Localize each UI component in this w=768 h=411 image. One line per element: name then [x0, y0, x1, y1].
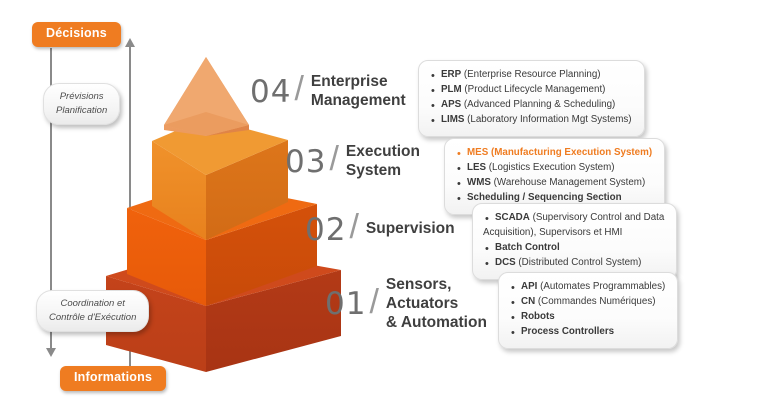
level-number-01: 01 [325, 286, 366, 322]
pyramid-tier-02 [127, 182, 317, 306]
callout-item: ERP (Enterprise Resource Planning) [441, 68, 632, 83]
level-label-03-line2: System [346, 162, 401, 179]
callout-item: API (Automates Programmables) [521, 280, 665, 295]
callout-item-desc: (Automates Programmables) [537, 281, 665, 292]
callout-item-desc: (Commandes Numériques) [535, 296, 655, 307]
callout-list-02: SCADA (Supervisory Control and DataAcqui… [483, 211, 664, 271]
callout-item-abbr: ERP [441, 69, 461, 80]
left-axis-arrow-down-icon [46, 348, 56, 357]
callout-item-desc: (Product Lifecycle Management) [462, 84, 606, 95]
level-slash-04: / [294, 70, 303, 109]
label-coordination-controle: Coordination et Contrôle d'Exécution [36, 290, 149, 332]
callout-list-03: MES (Manufacturing Execution System)LES … [455, 146, 652, 206]
callout-item-abbr: LIMS [441, 114, 464, 125]
callout-level-02: SCADA (Supervisory Control and DataAcqui… [472, 203, 677, 280]
level-label-01-line1: Sensors, [386, 276, 451, 293]
callout-level-01: API (Automates Programmables)CN (Command… [498, 272, 678, 349]
callout-item: CN (Commandes Numériques) [521, 295, 665, 310]
callout-item-abbr: CN [521, 296, 535, 307]
callout-item-abbr: Robots [521, 311, 555, 322]
level-title-04: 04 / Enterprise Management [250, 72, 406, 111]
callout-item-desc: (Distributed Control System) [516, 257, 642, 268]
level-slash-01: / [369, 283, 378, 322]
level-label-04-line1: Enterprise [311, 73, 388, 90]
callout-item-abbr: API [521, 281, 537, 292]
diagram-canvas: Décisions Informations Prévisions Planif… [0, 0, 768, 411]
callout-item-desc: (Advanced Planning & Scheduling) [461, 99, 615, 110]
callout-list-01: API (Automates Programmables)CN (Command… [509, 280, 665, 340]
label-previsions-planification: Prévisions Planification [43, 83, 120, 125]
callout-item-desc: (Warehouse Management System) [491, 177, 645, 188]
level-title-03: 03 / Execution System [285, 142, 420, 181]
level-label-01: Sensors, Actuators & Automation [386, 276, 487, 333]
callout-item-abbr: Batch Control [495, 242, 560, 253]
level-label-01-line2: Actuators [386, 295, 458, 312]
level-slash-03: / [329, 140, 338, 179]
level-label-03-line1: Execution [346, 143, 420, 160]
level-title-02: 02 / Supervision [305, 210, 455, 249]
level-number-02: 02 [305, 212, 346, 248]
level-label-03: Execution System [346, 143, 420, 181]
callout-level-04: ERP (Enterprise Resource Planning)PLM (P… [418, 60, 645, 137]
callout-item: DCS (Distributed Control System) [495, 256, 664, 271]
callout-item-abbr: DCS [495, 257, 516, 268]
callout-item-abbr: SCADA [495, 212, 530, 223]
badge-decisions[interactable]: Décisions [32, 22, 121, 47]
callout-item: PLM (Product Lifecycle Management) [441, 83, 632, 98]
callout-item-desc: (Laboratory Information Mgt Systems) [464, 114, 631, 125]
callout-item: LIMS (Laboratory Information Mgt Systems… [441, 113, 632, 128]
callout-item-abbr: Scheduling / Sequencing Section [467, 192, 622, 203]
right-axis-arrow-up-icon [125, 38, 135, 47]
pyramid-tier-04 [164, 57, 249, 136]
callout-item-abbr: LES [467, 162, 486, 173]
label-coordination-line1: Coordination et [49, 297, 136, 311]
level-label-02-line1: Supervision [366, 220, 455, 237]
level-label-02: Supervision [366, 220, 455, 239]
callout-item-abbr: PLM [441, 84, 462, 95]
callout-list-04: ERP (Enterprise Resource Planning)PLM (P… [429, 68, 632, 128]
callout-item-abbr: MES (Manufacturing Execution System) [467, 147, 652, 158]
level-slash-02: / [349, 208, 358, 247]
level-number-04: 04 [250, 74, 291, 110]
callout-item: Robots [521, 310, 665, 325]
callout-item-abbr: Process Controllers [521, 326, 614, 337]
badge-informations[interactable]: Informations [60, 366, 166, 391]
callout-item-desc: Acquisition), Supervisors et HMI [483, 227, 622, 238]
callout-item: APS (Advanced Planning & Scheduling) [441, 98, 632, 113]
callout-item-desc: (Logistics Execution System) [486, 162, 615, 173]
callout-item: Batch Control [495, 241, 664, 256]
callout-item-desc: (Enterprise Resource Planning) [461, 69, 600, 80]
pyramid-tier-03 [152, 118, 288, 240]
callout-item: SCADA (Supervisory Control and Data [495, 211, 664, 226]
callout-item: Process Controllers [521, 325, 665, 340]
level-number-03: 03 [285, 144, 326, 180]
label-previsions-line2: Planification [56, 104, 107, 118]
label-coordination-line2: Contrôle d'Exécution [49, 311, 136, 325]
label-previsions-line1: Prévisions [56, 90, 107, 104]
callout-item-desc: (Supervisory Control and Data [530, 212, 665, 223]
callout-item: WMS (Warehouse Management System) [467, 176, 652, 191]
level-label-04-line2: Management [311, 92, 406, 109]
callout-item: Acquisition), Supervisors et HMI [483, 226, 664, 241]
callout-item: LES (Logistics Execution System) [467, 161, 652, 176]
level-label-01-line3: & Automation [386, 314, 487, 331]
callout-item: MES (Manufacturing Execution System) [467, 146, 652, 161]
callout-item-abbr: WMS [467, 177, 491, 188]
level-label-04: Enterprise Management [311, 73, 406, 111]
callout-item-abbr: APS [441, 99, 461, 110]
level-title-01: 01 / Sensors, Actuators & Automation [325, 276, 487, 333]
